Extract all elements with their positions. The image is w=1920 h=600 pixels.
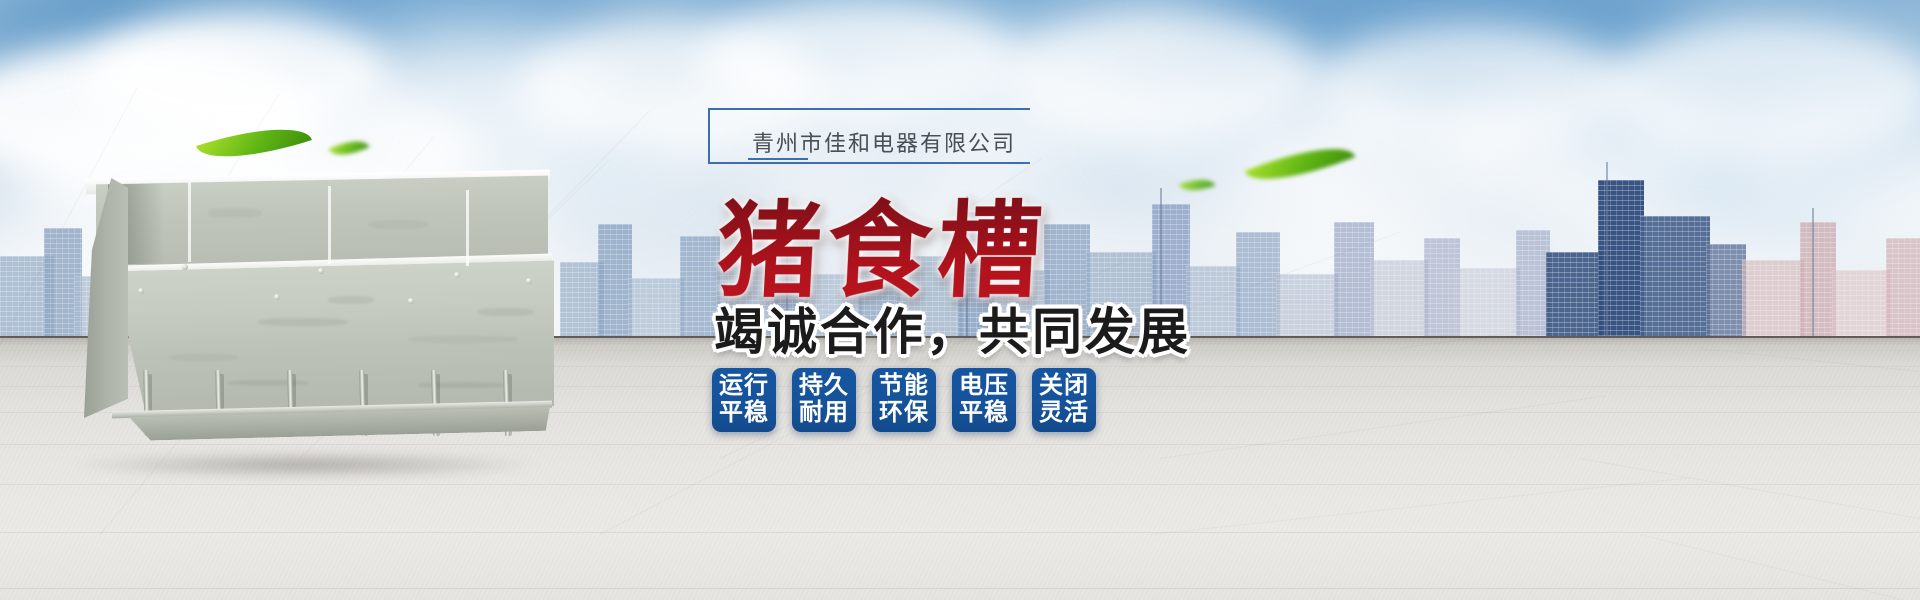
banner-subtitle: 竭诚合作，共同发展 bbox=[714, 292, 1191, 364]
banner-copy: 青州市佳和电器有限公司 猪食槽 竭诚合作，共同发展 运行平稳持久耐用节能环保电压… bbox=[690, 96, 1390, 546]
badge-line-2: 灵活 bbox=[1039, 400, 1089, 427]
badge-line-2: 耐用 bbox=[799, 400, 849, 427]
building-antenna bbox=[1606, 162, 1608, 348]
feature-badge-5[interactable]: 关闭灵活 bbox=[1032, 368, 1096, 432]
trough-bolt bbox=[274, 294, 280, 300]
trough-surface-mark bbox=[368, 220, 428, 229]
building-antenna bbox=[1812, 208, 1814, 348]
decorative-frame-tail bbox=[748, 158, 808, 160]
trough-surface-mark bbox=[258, 318, 348, 326]
trough-weld-seam bbox=[466, 190, 469, 266]
badge-line-1: 电压 bbox=[959, 373, 1009, 400]
skyline-building bbox=[1640, 216, 1710, 348]
skyline-building bbox=[1706, 244, 1746, 348]
skyline-building bbox=[1800, 222, 1836, 348]
skyline-building bbox=[1424, 238, 1460, 348]
trough-surface-mark bbox=[478, 308, 534, 316]
trough-bolt bbox=[318, 268, 324, 274]
badge-line-1: 持久 bbox=[799, 373, 849, 400]
feature-badge-2[interactable]: 持久耐用 bbox=[792, 368, 856, 432]
badge-line-1: 关闭 bbox=[1039, 373, 1089, 400]
skyline-building bbox=[1598, 180, 1644, 348]
trough-bolt bbox=[138, 288, 144, 294]
trough-bolt bbox=[182, 264, 188, 270]
trough-bolt bbox=[454, 272, 460, 278]
product-image-feeding-trough bbox=[78, 168, 558, 458]
trough-bolt bbox=[526, 278, 532, 284]
trough-weld-seam bbox=[188, 182, 191, 262]
company-name: 青州市佳和电器有限公司 bbox=[752, 126, 1172, 158]
badge-line-2: 平稳 bbox=[959, 400, 1009, 427]
pavement-joint bbox=[0, 588, 1920, 589]
feature-badge-list: 运行平稳持久耐用节能环保电压平稳关闭灵活 bbox=[712, 368, 1096, 432]
badge-line-1: 运行 bbox=[719, 373, 769, 400]
trough-weld-seam bbox=[328, 186, 331, 264]
skyline-building bbox=[1886, 238, 1920, 348]
badge-line-1: 节能 bbox=[879, 373, 929, 400]
feature-badge-1[interactable]: 运行平稳 bbox=[712, 368, 776, 432]
trough-surface-mark bbox=[408, 336, 518, 343]
trough-surface-mark bbox=[228, 380, 308, 386]
feature-badge-3[interactable]: 节能环保 bbox=[872, 368, 936, 432]
skyline-building bbox=[598, 224, 632, 348]
promo-banner: 青州市佳和电器有限公司 猪食槽 竭诚合作，共同发展 运行平稳持久耐用节能环保电压… bbox=[0, 0, 1920, 600]
skyline-building bbox=[1546, 252, 1602, 348]
feature-badge-4[interactable]: 电压平稳 bbox=[952, 368, 1016, 432]
badge-line-2: 环保 bbox=[879, 400, 929, 427]
badge-line-2: 平稳 bbox=[719, 400, 769, 427]
trough-side-panel bbox=[84, 178, 128, 418]
skyline-building bbox=[1742, 260, 1804, 348]
trough-surface-mark bbox=[208, 208, 262, 218]
trough-surface-mark bbox=[328, 296, 374, 304]
trough-surface-mark bbox=[168, 354, 238, 361]
trough-bolt bbox=[408, 298, 414, 304]
